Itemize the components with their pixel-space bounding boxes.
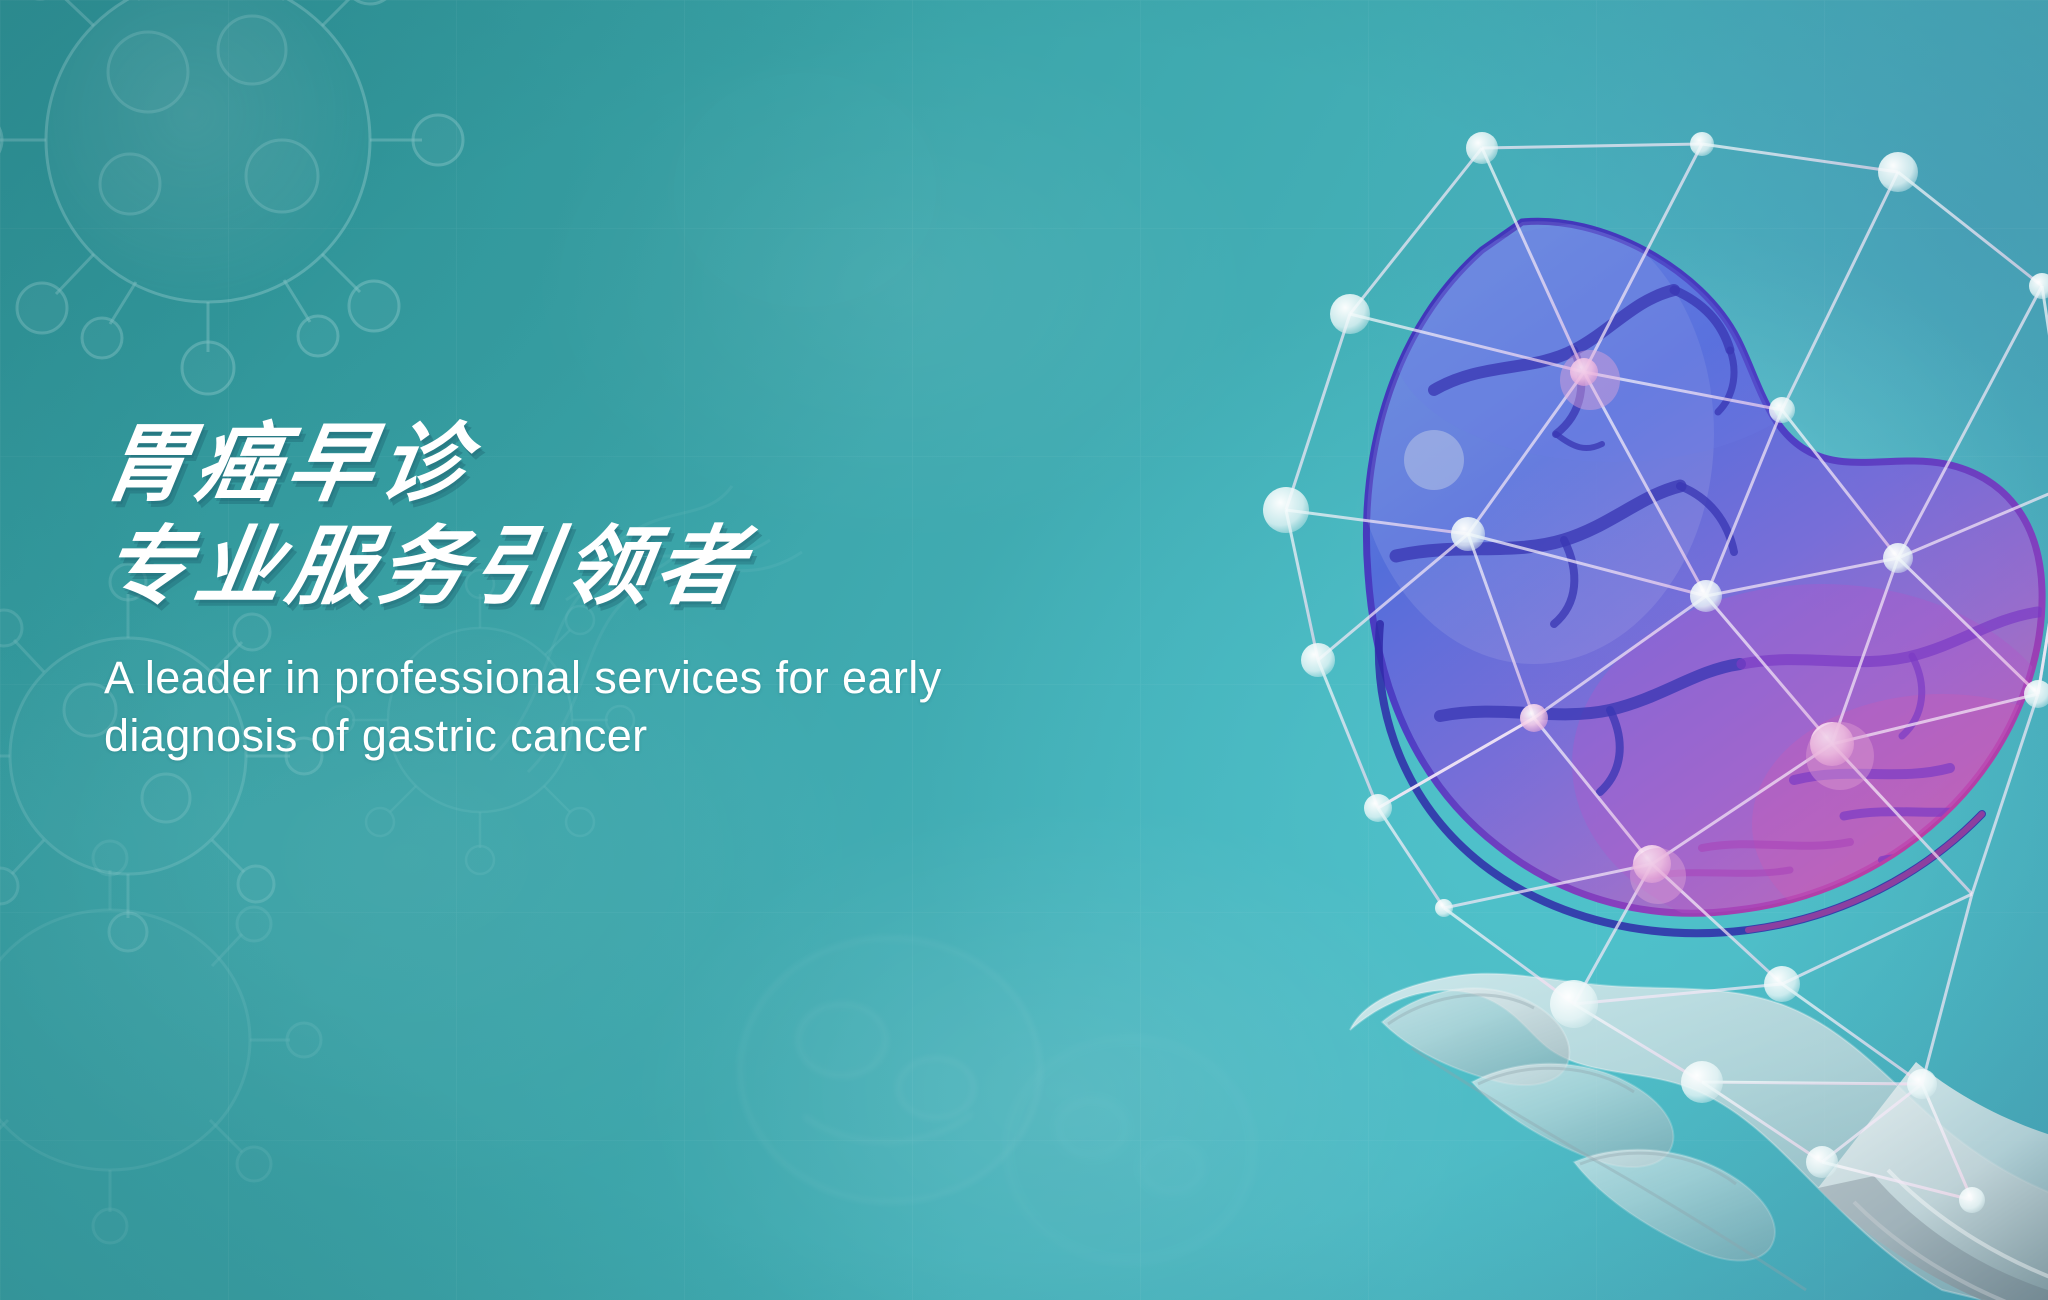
page-subtitle-line2: diagnosis of gastric cancer — [104, 710, 648, 761]
page-subtitle: A leader in professional services for ea… — [104, 649, 1114, 766]
page-title-line1: 胃癌早诊 — [97, 420, 1171, 509]
hand-holding-stomach-graphic — [1182, 104, 2048, 1300]
hero-text-block: 胃癌早诊 专业服务引领者 A leader in professional se… — [104, 420, 1164, 766]
page-subtitle-line1: A leader in professional services for ea… — [104, 652, 942, 703]
page-title-line2: 专业服务引领者 — [97, 523, 1171, 612]
gastric-cancer-hero-banner: 胃癌早诊 专业服务引领者 A leader in professional se… — [0, 0, 2048, 1300]
